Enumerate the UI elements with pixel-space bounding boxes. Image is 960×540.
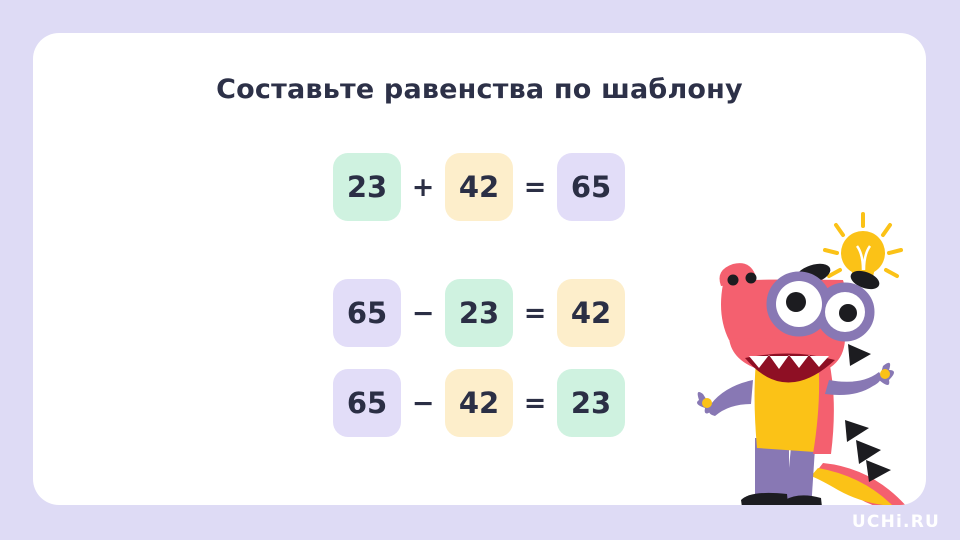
- foot-left: [741, 493, 789, 505]
- number-tile-left[interactable]: 65: [333, 369, 401, 437]
- dinosaur-mascot: [693, 208, 926, 505]
- number-tile-left[interactable]: 65: [333, 279, 401, 347]
- number-tile-right[interactable]: 23: [557, 369, 625, 437]
- lesson-card: Составьте равенства по шаблону 23 + 42 =…: [33, 33, 926, 505]
- pupil-right: [839, 304, 857, 322]
- operator-equals: =: [513, 298, 557, 329]
- hand-star-right: [880, 369, 890, 379]
- pupil-left: [786, 292, 806, 312]
- number-tile-right[interactable]: 65: [557, 153, 625, 221]
- equation-row: 23 + 42 = 65: [333, 153, 625, 221]
- arm-left: [709, 380, 753, 416]
- arm-right: [825, 372, 881, 395]
- operator-minus: −: [401, 388, 445, 419]
- operator-plus: +: [401, 172, 445, 203]
- number-tile-left[interactable]: 23: [333, 153, 401, 221]
- number-tile-middle[interactable]: 42: [445, 369, 513, 437]
- uchi-ru-logo: UCHi.RU: [852, 512, 940, 532]
- number-tile-middle[interactable]: 42: [445, 153, 513, 221]
- equation-row: 65 − 23 = 42: [333, 279, 625, 347]
- operator-equals: =: [513, 388, 557, 419]
- number-tile-middle[interactable]: 23: [445, 279, 513, 347]
- operator-minus: −: [401, 298, 445, 329]
- nostril-right: [746, 273, 757, 284]
- nostril-left: [728, 275, 739, 286]
- equation-row: 65 − 42 = 23: [333, 369, 625, 437]
- hand-star-left: [702, 398, 712, 408]
- operator-equals: =: [513, 172, 557, 203]
- number-tile-right[interactable]: 42: [557, 279, 625, 347]
